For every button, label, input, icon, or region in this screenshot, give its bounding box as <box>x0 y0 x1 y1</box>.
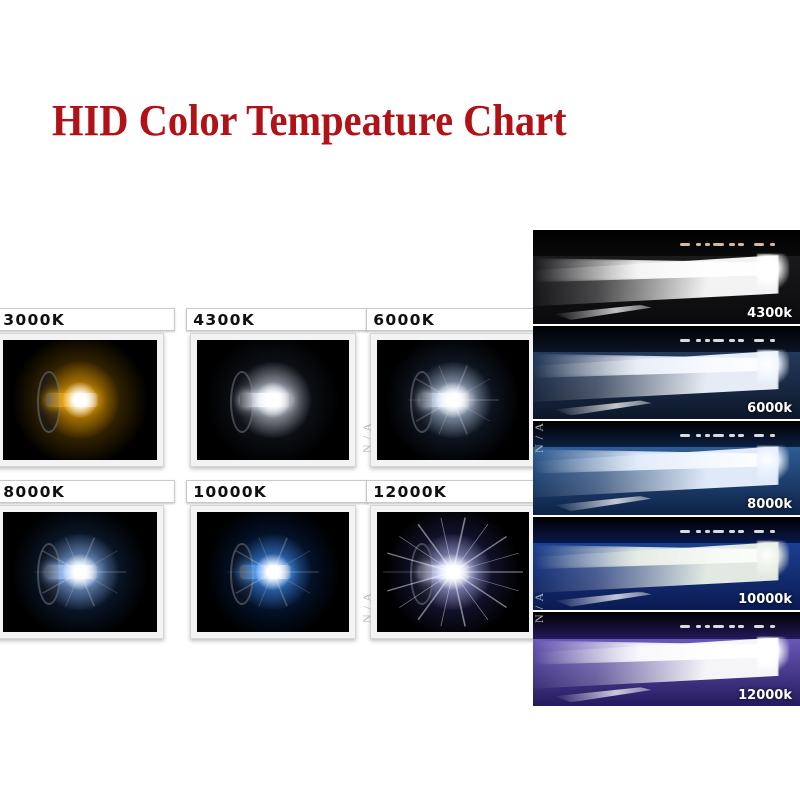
horizon-light-dot <box>770 339 776 342</box>
horizon-light-dot <box>770 243 776 246</box>
horizon-light-dot <box>729 243 735 246</box>
beam-photo-12000k: 12000k <box>533 612 800 706</box>
watermark-text: N / A <box>532 422 547 453</box>
distant-horizon-lights <box>680 434 792 439</box>
horizon-light-dot <box>754 243 764 246</box>
horizon-light-dot <box>754 625 764 628</box>
horizon-light-dot <box>729 530 735 533</box>
horizon-light-dot <box>738 243 744 246</box>
horizon-light-dot <box>738 339 744 342</box>
headlight-source <box>757 541 789 577</box>
horizon-light-dot <box>729 434 735 437</box>
bulb-photo-frame <box>370 505 536 639</box>
bulb-starburst-rays <box>377 512 529 632</box>
horizon-light-dot <box>705 530 711 533</box>
horizon-light-dot <box>696 530 702 533</box>
horizon-light-dot <box>738 434 744 437</box>
beam-temp-label: 12000k <box>738 688 792 703</box>
horizon-light-dot <box>705 243 711 246</box>
horizon-light-dot <box>705 339 711 342</box>
horizon-light-dot <box>680 530 690 533</box>
horizon-light-dot <box>680 243 690 246</box>
horizon-light-dot <box>705 434 711 437</box>
horizon-light-dot <box>680 339 690 342</box>
horizon-light-dot <box>738 625 744 628</box>
horizon-light-dot <box>729 339 735 342</box>
bulb-panel-12000k: 12000K <box>0 308 545 648</box>
beam-temp-label: 10000k <box>738 592 792 607</box>
distant-horizon-lights <box>680 339 792 344</box>
watermark-text: N / A <box>532 592 547 623</box>
horizon-light-dot <box>696 243 702 246</box>
horizon-light-dot <box>713 530 723 533</box>
horizon-light-dot <box>713 434 723 437</box>
horizon-light-dot <box>738 530 744 533</box>
horizon-light-dot <box>754 339 764 342</box>
beam-temp-label: 6000k <box>747 401 792 416</box>
horizon-light-dot <box>713 625 723 628</box>
headlight-source <box>757 446 789 482</box>
horizon-light-dot <box>696 625 702 628</box>
headlight-source <box>757 350 789 386</box>
beam-photo-8000k: 8000k <box>533 421 800 517</box>
road-beam-comparison-strip: 4300k6000k8000k10000k12000k <box>533 230 800 698</box>
horizon-light-dot <box>713 339 723 342</box>
horizon-light-dot <box>696 434 702 437</box>
distant-horizon-lights <box>680 625 792 630</box>
headlight-source <box>757 637 789 673</box>
bulb-photo-12000k <box>377 512 529 632</box>
beam-photo-10000k: 10000k <box>533 517 800 613</box>
horizon-light-dot <box>754 434 764 437</box>
distant-horizon-lights <box>680 530 792 535</box>
distant-horizon-lights <box>680 243 792 248</box>
horizon-light-dot <box>770 434 776 437</box>
horizon-light-dot <box>713 243 723 246</box>
bulb-sample-grid: 3000K4300K6000K8000K10000K12000K <box>0 308 545 648</box>
watermark-text: N / A <box>360 422 375 453</box>
horizon-light-dot <box>754 530 764 533</box>
beam-temp-label: 4300k <box>747 306 792 321</box>
horizon-light-dot <box>770 530 776 533</box>
beam-photo-4300k: 4300k <box>533 230 800 326</box>
horizon-light-dot <box>729 625 735 628</box>
page-title: HID Color Tempeature Chart <box>52 96 696 146</box>
horizon-light-dot <box>705 625 711 628</box>
beam-photo-6000k: 6000k <box>533 326 800 422</box>
beam-temp-label: 8000k <box>747 497 792 512</box>
headlight-source <box>757 254 789 290</box>
horizon-light-dot <box>696 339 702 342</box>
horizon-light-dot <box>770 625 776 628</box>
horizon-light-dot <box>680 434 690 437</box>
horizon-light-dot <box>680 625 690 628</box>
watermark-text: N / A <box>360 592 375 623</box>
bulb-temp-label: 12000K <box>366 480 548 503</box>
